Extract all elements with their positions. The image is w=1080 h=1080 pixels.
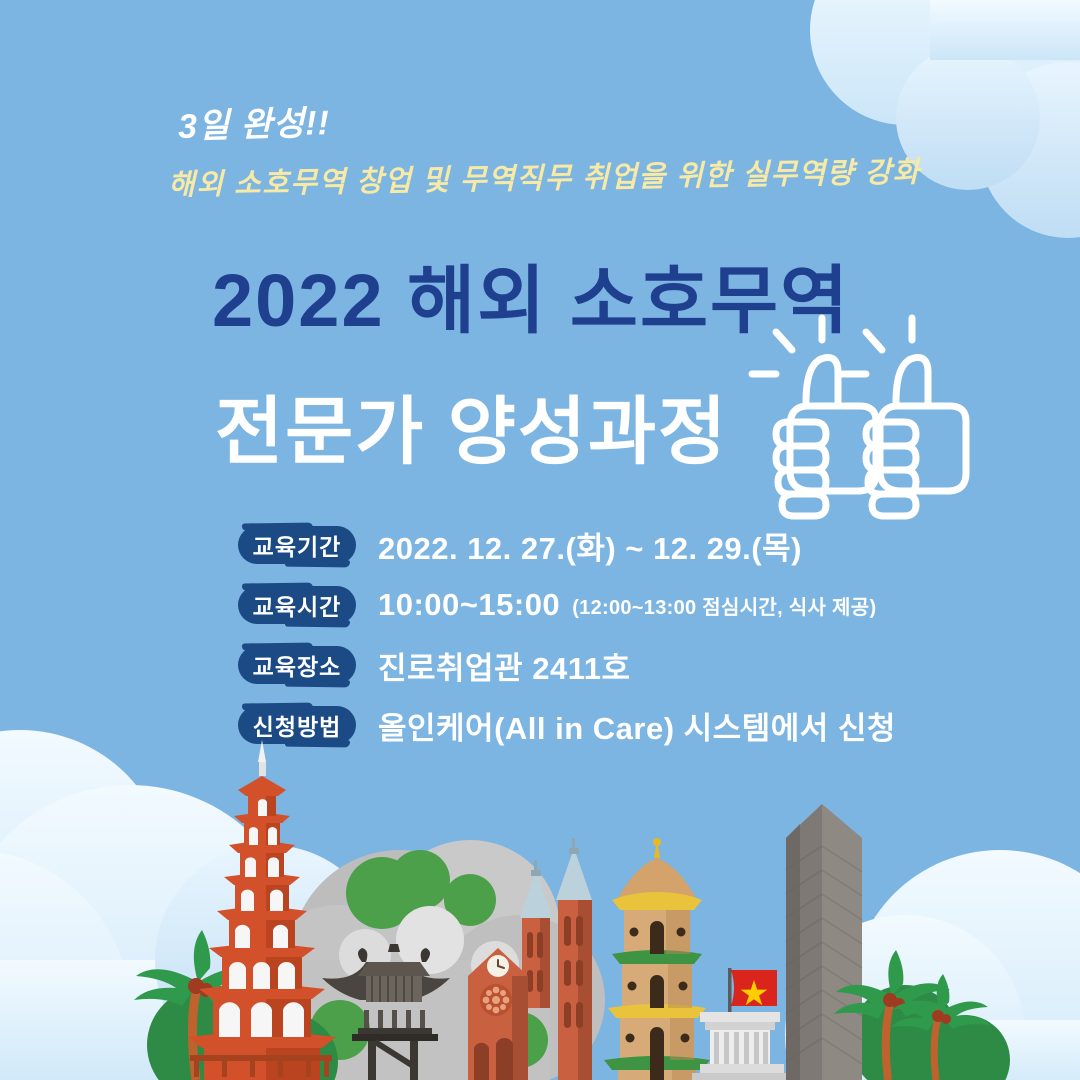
badge-period: 교육기간 — [238, 526, 356, 564]
palm-tree-left — [134, 930, 264, 1080]
eyebrow-text: 3일 완성!! — [177, 95, 330, 148]
value-time: 10:00~15:00 — [378, 587, 560, 623]
subheading-text: 해외 소호무역 창업 및 무역직무 취업을 위한 실무역량 강화 — [168, 148, 921, 203]
info-row-time: 교육시간 10:00~15:00 (12:00~13:00 점심시간, 식사 제… — [238, 579, 998, 631]
info-list: 교육기간 2022. 12. 27.(화) ~ 12. 29.(목) 교육시간 … — [238, 519, 998, 759]
badge-apply: 신청방법 — [238, 706, 356, 744]
karst-rocks — [245, 840, 605, 1080]
bushes — [147, 985, 1010, 1080]
palm-tree-right — [834, 950, 990, 1080]
note-time: (12:00~13:00 점심시간, 식사 제공) — [572, 591, 876, 620]
value-apply: 올인케어(All in Care) 시스템에서 신청 — [378, 703, 896, 748]
poster-canvas: 3일 완성!! 해외 소호무역 창업 및 무역직무 취업을 위한 실무역량 강화… — [0, 0, 1080, 1080]
value-place: 진로취업관 2411호 — [378, 643, 631, 688]
cloud-mid-left — [155, 845, 385, 1075]
cloud-bottom-right — [785, 850, 1080, 1080]
thien-mu-pagoda — [604, 838, 710, 1080]
badge-time: 교육시간 — [238, 586, 356, 624]
info-row-place: 교육장소 진로취업관 2411호 — [238, 639, 998, 691]
cloud-bottom-left — [0, 730, 305, 1080]
page-title-line-2: 전문가 양성과정 — [215, 372, 728, 479]
info-row-period: 교육기간 2022. 12. 27.(화) ~ 12. 29.(목) — [238, 519, 998, 571]
page-title-line-1: 2022 해외 소호무역 — [212, 241, 850, 348]
badge-place: 교육장소 — [238, 646, 356, 684]
vietnam-flag — [728, 968, 777, 1080]
tran-quoc-pagoda — [188, 740, 336, 1080]
info-row-apply: 신청방법 올인케어(All in Care) 시스템에서 신청 — [238, 699, 998, 751]
value-period: 2022. 12. 27.(화) ~ 12. 29.(목) — [378, 523, 802, 568]
notre-dame-cathedral — [468, 838, 592, 1080]
bitexco-tower — [786, 804, 862, 1080]
cloud-top-right — [810, 0, 1080, 238]
ho-chi-minh-mausoleum — [692, 1012, 792, 1080]
one-pillar-pagoda — [322, 944, 450, 1080]
